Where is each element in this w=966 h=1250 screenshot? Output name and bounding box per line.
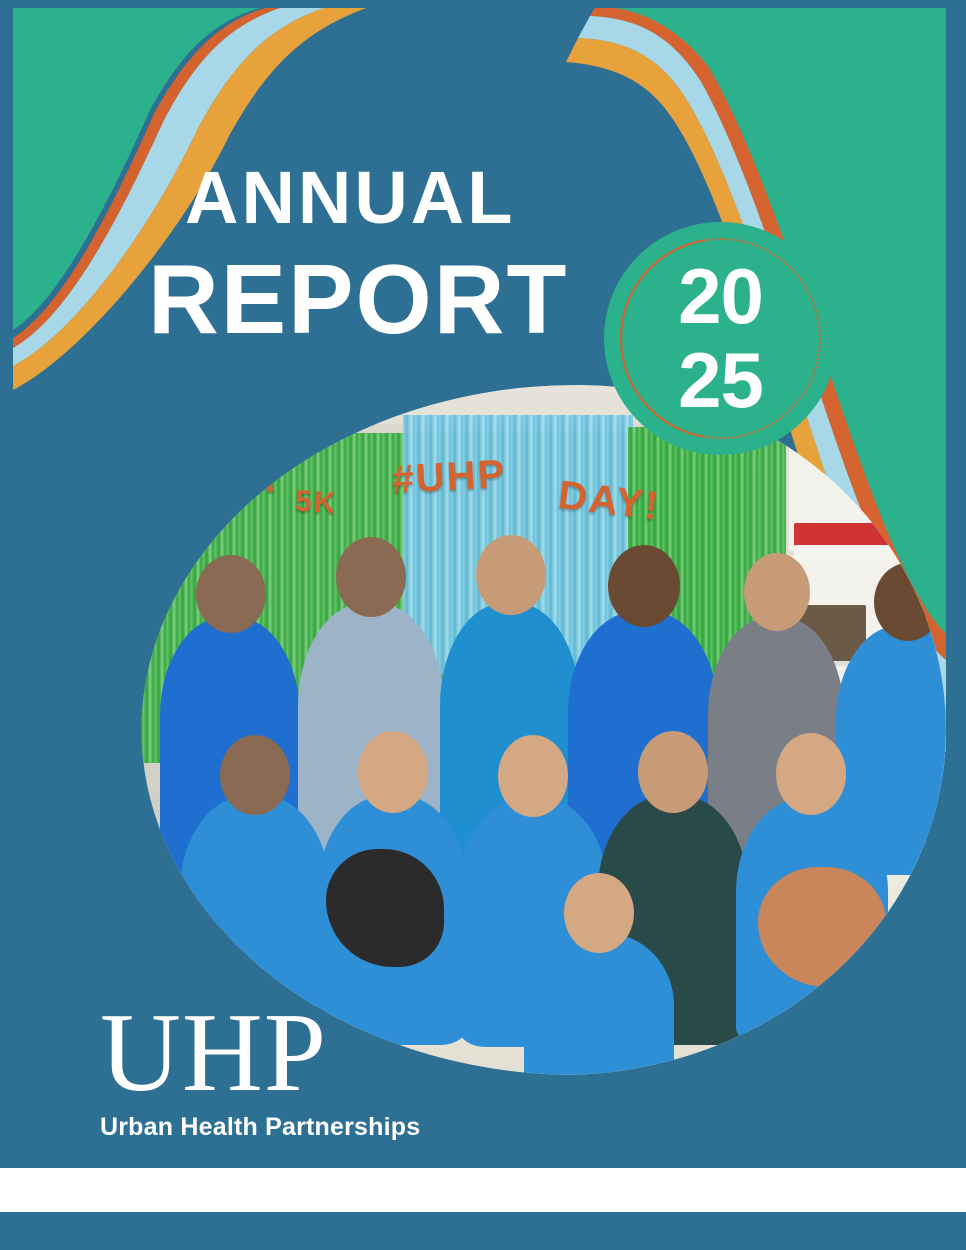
report-cover-page: PORT 5K #UHP DAY! <box>0 0 966 1250</box>
white-box <box>794 545 894 561</box>
cover-frame-right <box>946 0 966 1168</box>
staff-head-back-4 <box>608 545 680 627</box>
staff-head-back-6 <box>874 563 942 641</box>
party-banner: PORT 5K #UHP DAY! <box>164 463 854 535</box>
staff-head-back-3 <box>476 535 546 615</box>
year-badge-text: 20 25 <box>604 254 837 422</box>
page-title-annual: ANNUAL <box>185 161 515 235</box>
staff-head-back-1 <box>196 555 266 633</box>
staff-head-front-4 <box>638 731 708 813</box>
page-title-report: REPORT <box>148 250 568 348</box>
cover-frame-left <box>0 0 13 1168</box>
photo-ellipse-mask: PORT 5K #UHP DAY! <box>108 385 946 1075</box>
banner-word-1: PORT <box>161 455 285 516</box>
banner-word-4: DAY! <box>555 473 662 530</box>
page-gap <box>0 1168 966 1212</box>
logo-organization-name: Urban Health Partnerships <box>100 1112 430 1142</box>
staff-head-back-2 <box>336 537 406 617</box>
cover-panel: PORT 5K #UHP DAY! <box>0 0 966 1168</box>
wicker-basket <box>918 495 946 553</box>
staff-head-back-5 <box>744 553 810 631</box>
staff-head-front-1 <box>220 735 290 815</box>
staff-head-front-5 <box>776 733 846 815</box>
staff-member-seated <box>524 933 674 1075</box>
year-badge: 20 25 <box>604 222 837 455</box>
cover-frame-top <box>0 0 966 8</box>
red-binders <box>794 523 890 547</box>
staff-head-front-2 <box>358 731 428 813</box>
uhp-logo: UHP Urban Health Partnerships <box>100 1003 430 1142</box>
page-footer-band <box>0 1212 966 1250</box>
group-photo: PORT 5K #UHP DAY! <box>108 385 946 1075</box>
staff-head-front-3 <box>498 735 568 817</box>
year-badge-line-1: 20 <box>604 254 837 338</box>
logo-wordmark: UHP <box>100 1003 430 1103</box>
staff-head-seated <box>564 873 634 953</box>
banner-word-2: 5K <box>294 485 339 522</box>
year-badge-line-2: 25 <box>604 338 837 422</box>
banner-word-3: #UHP <box>390 452 507 503</box>
